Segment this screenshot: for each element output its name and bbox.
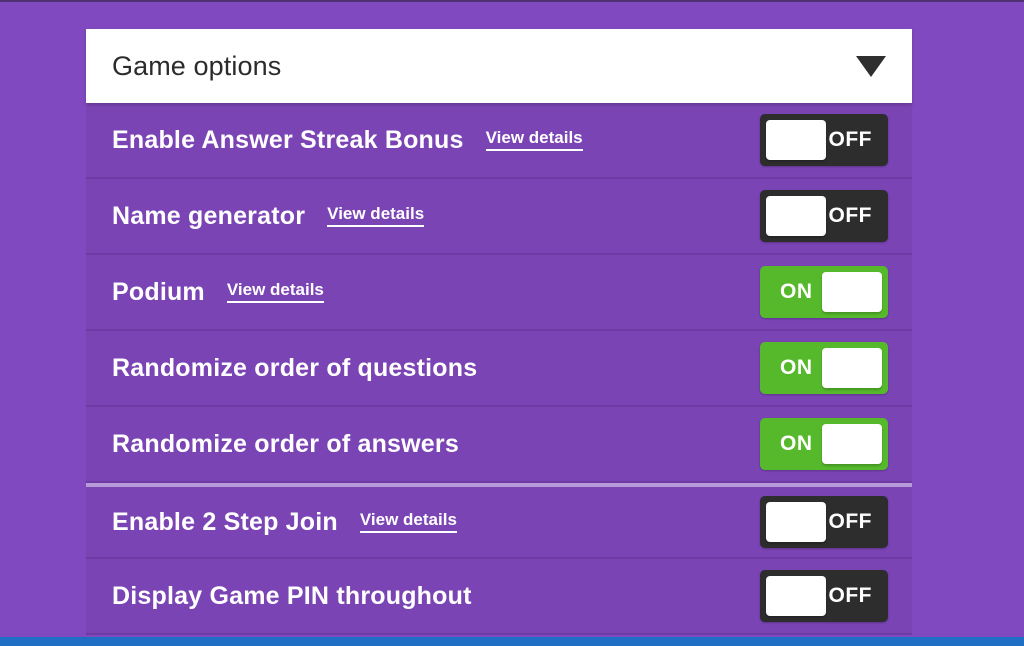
toggle-state-label: OFF: [829, 584, 873, 608]
option-label: Randomize order of questions: [112, 354, 477, 383]
option-label: Name generator: [112, 202, 305, 231]
bottom-blue-strip: [0, 637, 1024, 646]
option-toggle[interactable]: OFF: [760, 114, 888, 166]
toggle-knob[interactable]: [822, 424, 882, 464]
toggle-knob[interactable]: [822, 272, 882, 312]
toggle-knob[interactable]: [766, 576, 826, 616]
option-toggle[interactable]: ON: [760, 266, 888, 318]
page-title: Game options: [112, 51, 281, 82]
option-row: Enable Answer Streak BonusView detailsOF…: [86, 103, 912, 179]
option-row: Display Game PIN throughoutOFF: [86, 559, 912, 635]
option-label: Randomize order of answers: [112, 430, 459, 459]
option-label: Enable 2 Step Join: [112, 508, 338, 537]
option-label: Display Game PIN throughout: [112, 582, 472, 611]
options-list: Enable Answer Streak BonusView detailsOF…: [86, 103, 912, 635]
view-details-link[interactable]: View details: [227, 281, 324, 303]
toggle-state-label: OFF: [829, 128, 873, 152]
option-row: Name generatorView detailsOFF: [86, 179, 912, 255]
option-label: Enable Answer Streak Bonus: [112, 126, 464, 155]
chevron-down-icon[interactable]: [856, 56, 886, 77]
view-details-link[interactable]: View details: [486, 129, 583, 151]
option-toggle[interactable]: OFF: [760, 570, 888, 622]
page-background: Game options Enable Answer Streak BonusV…: [0, 2, 1024, 637]
toggle-state-label: OFF: [829, 204, 873, 228]
toggle-knob[interactable]: [822, 348, 882, 388]
option-row: Enable 2 Step JoinView detailsOFF: [86, 483, 912, 559]
option-toggle[interactable]: OFF: [760, 190, 888, 242]
toggle-knob[interactable]: [766, 502, 826, 542]
option-label: Podium: [112, 278, 205, 307]
toggle-state-label: ON: [780, 356, 813, 380]
option-toggle[interactable]: ON: [760, 342, 888, 394]
toggle-state-label: ON: [780, 432, 813, 456]
view-details-link[interactable]: View details: [360, 511, 457, 533]
game-options-card: Game options Enable Answer Streak BonusV…: [86, 29, 912, 635]
view-details-link[interactable]: View details: [327, 205, 424, 227]
option-row: Randomize order of questionsON: [86, 331, 912, 407]
option-toggle[interactable]: OFF: [760, 496, 888, 548]
toggle-state-label: OFF: [829, 510, 873, 534]
toggle-state-label: ON: [780, 280, 813, 304]
option-row: Randomize order of answersON: [86, 407, 912, 483]
toggle-knob[interactable]: [766, 196, 826, 236]
option-row: PodiumView detailsON: [86, 255, 912, 331]
option-toggle[interactable]: ON: [760, 418, 888, 470]
toggle-knob[interactable]: [766, 120, 826, 160]
game-options-header[interactable]: Game options: [86, 29, 912, 103]
